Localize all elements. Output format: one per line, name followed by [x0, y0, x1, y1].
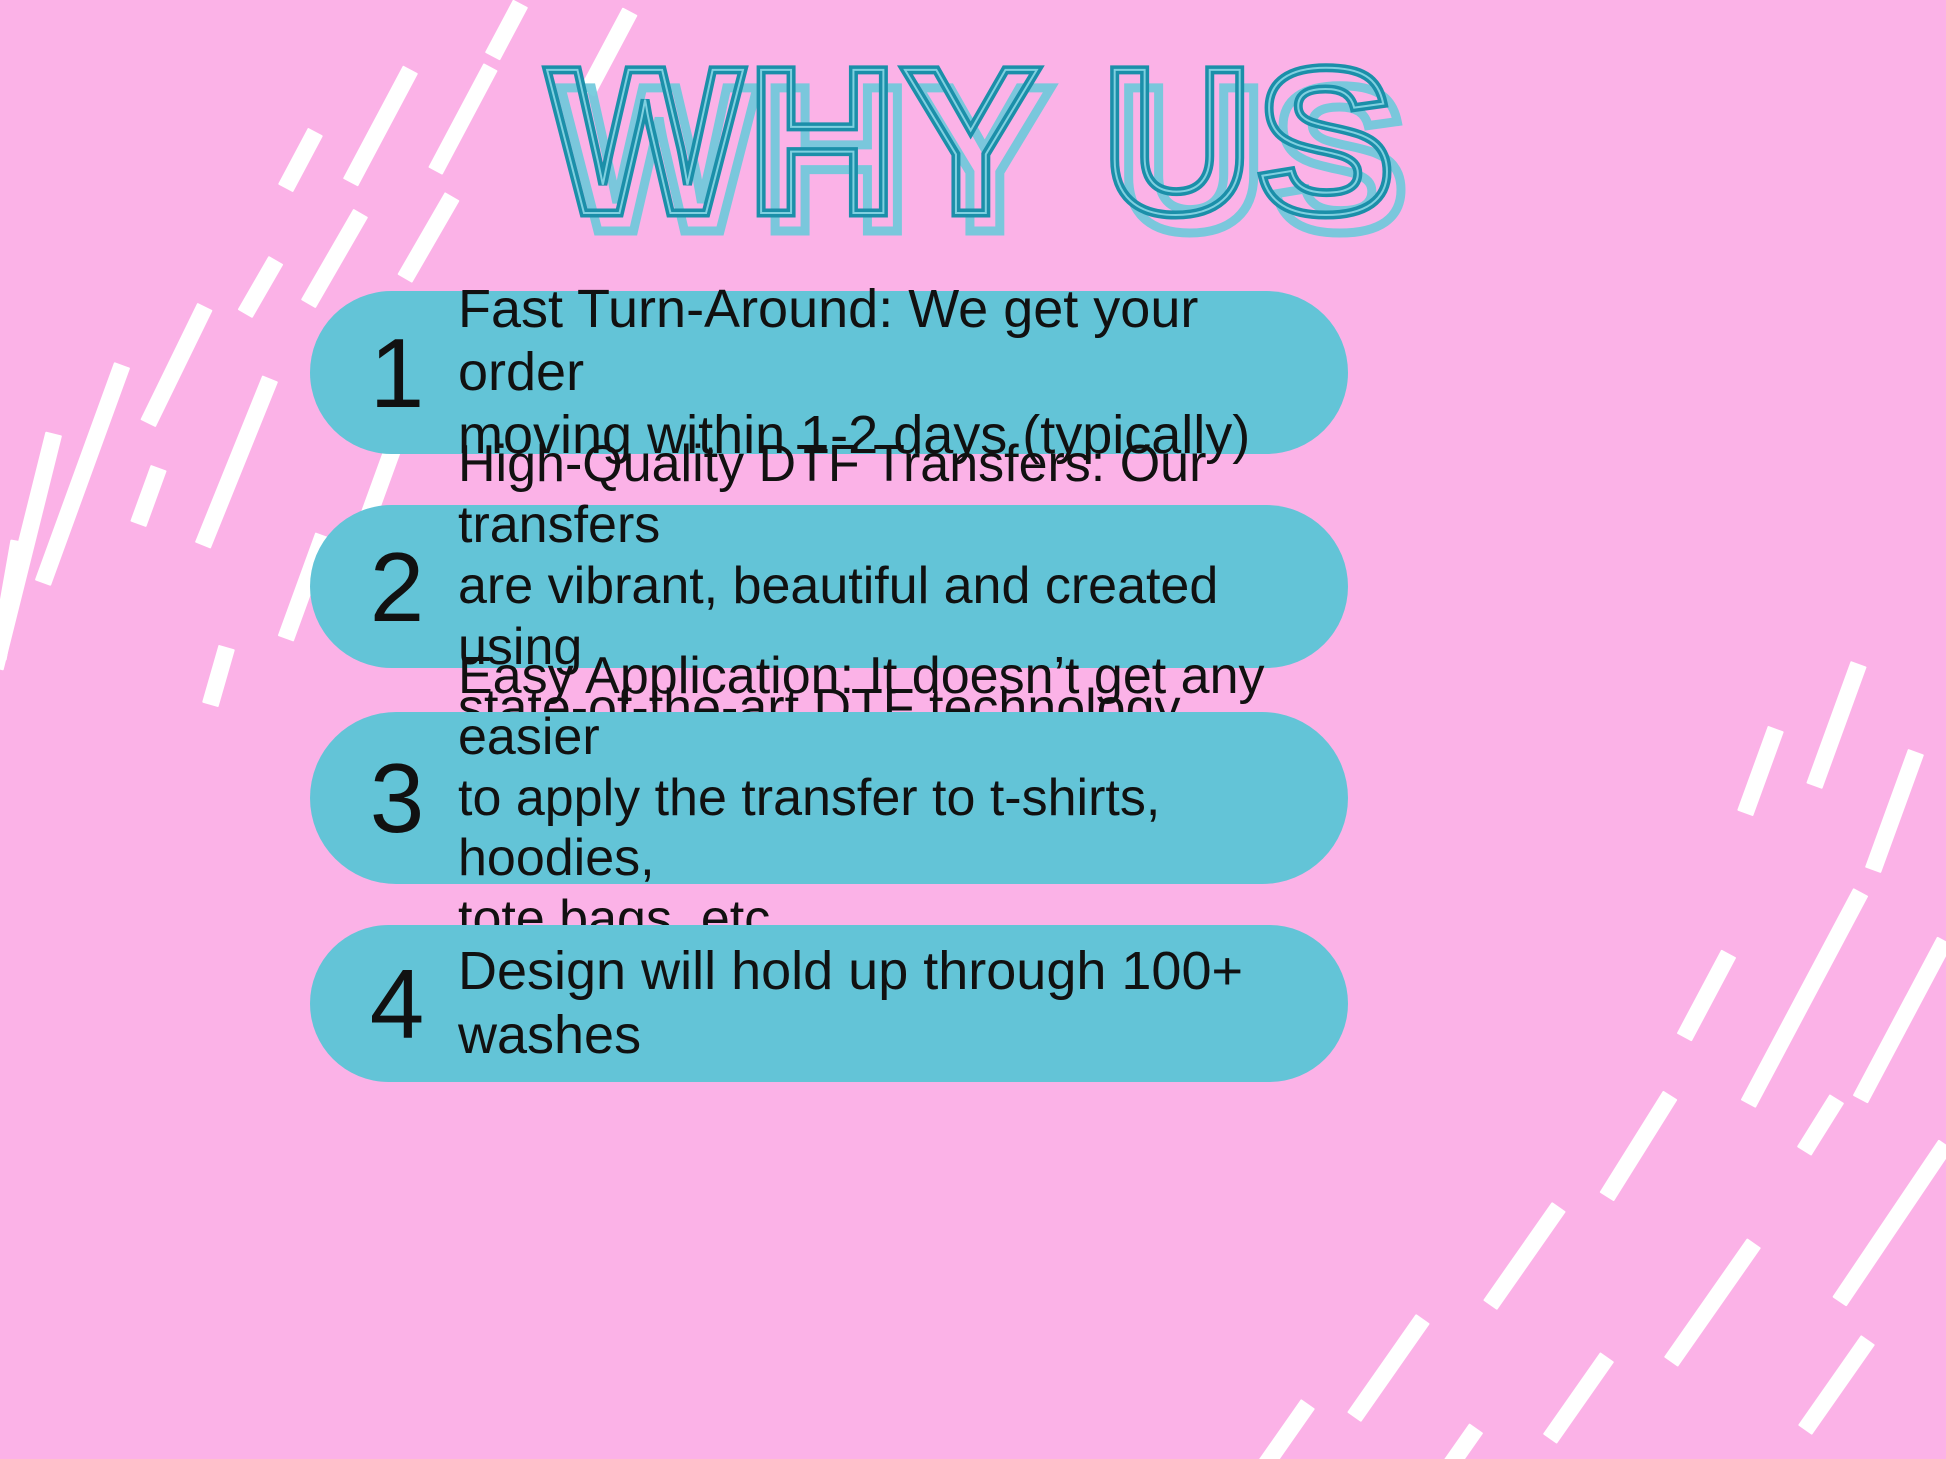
decorative-dash-top-left-6	[238, 256, 284, 318]
decorative-dash-bottom-right-8	[1832, 1139, 1946, 1306]
decorative-dash-bottom-right-1	[1737, 726, 1784, 816]
decorative-dash-top-left-11	[130, 465, 166, 527]
decorative-dash-top-left-4	[485, 0, 528, 60]
title-inner-layer: WHY US	[0, 38, 1946, 246]
decorative-dash-top-left-15	[202, 645, 235, 707]
decorative-dash-bottom-right-4	[1677, 950, 1737, 1042]
decorative-dash-bottom-right-14	[1238, 1399, 1315, 1459]
decorative-dash-top-left-0	[428, 63, 498, 175]
decorative-dash-bottom-right-2	[1865, 749, 1924, 873]
benefit-pill-4: 4 Design will hold up through 100+ washe…	[310, 925, 1348, 1082]
benefit-pill-3: 3 Easy Application: It doesn’t get any e…	[310, 712, 1348, 884]
decorative-dash-bottom-right-15	[1418, 1423, 1484, 1459]
decorative-dash-bottom-right-11	[1347, 1314, 1430, 1422]
decorative-dash-top-left-10	[195, 375, 278, 548]
decorative-dash-top-left-3	[278, 128, 323, 192]
title-main-layer: WHY US	[0, 38, 1946, 246]
decorative-dash-bottom-right-7	[1797, 1094, 1844, 1156]
decorative-dash-top-left-1	[579, 7, 637, 96]
decorative-dash-bottom-right-3	[1741, 888, 1869, 1108]
benefit-number-1: 1	[354, 324, 440, 422]
poster-canvas: WHY US WHY US WHY US 1 Fast Turn-Around:…	[0, 0, 1946, 1459]
benefit-text-4: Design will hold up through 100+ washes	[458, 940, 1348, 1066]
decorative-dash-top-left-5	[301, 209, 368, 308]
benefit-number-4: 4	[354, 955, 440, 1053]
decorative-dash-top-left-7	[397, 192, 459, 283]
decorative-dash-bottom-right-13	[1798, 1335, 1875, 1435]
benefit-number-2: 2	[354, 538, 440, 636]
decorative-dash-top-left-2	[343, 66, 418, 187]
benefit-pill-2: 2 High-Quality DTF Transfers: Our transf…	[310, 505, 1348, 668]
decorative-dash-bottom-right-5	[1853, 937, 1946, 1104]
decorative-dash-bottom-right-10	[1664, 1238, 1761, 1367]
decorative-dash-bottom-right-12	[1543, 1352, 1614, 1444]
benefit-text-3: Easy Application: It doesn’t get any eas…	[458, 646, 1348, 950]
page-title: WHY US WHY US WHY US	[0, 38, 1946, 258]
decorative-dash-bottom-right-9	[1483, 1202, 1566, 1310]
decorative-dash-bottom-right-0	[1806, 661, 1866, 789]
decorative-dash-top-left-16	[0, 539, 27, 660]
decorative-dash-top-left-8	[140, 303, 212, 427]
benefit-pill-1: 1 Fast Turn-Around: We get your order mo…	[310, 291, 1348, 454]
benefit-number-3: 3	[354, 749, 440, 847]
decorative-dash-bottom-right-6	[1599, 1091, 1677, 1202]
